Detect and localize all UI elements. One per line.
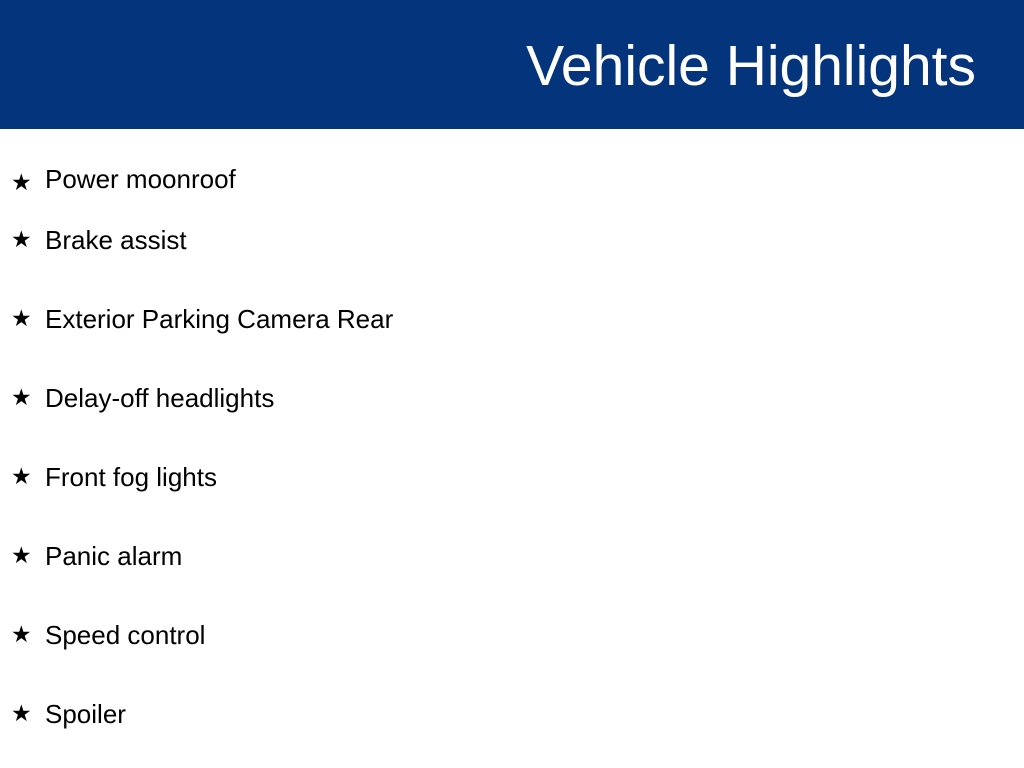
list-item: ★ Front fog lights bbox=[0, 438, 1024, 517]
list-item: ★ Delay-off headlights bbox=[0, 359, 1024, 438]
star-bullet-icon: ★ bbox=[11, 308, 45, 331]
star-bullet-icon: ★ bbox=[11, 624, 45, 647]
list-item: ★ Panic alarm bbox=[0, 517, 1024, 596]
star-bullet-icon: ★ bbox=[11, 172, 45, 195]
slide-header-bar: Vehicle Highlights bbox=[0, 0, 1024, 129]
list-item-label: Spoiler bbox=[45, 700, 126, 730]
list-item-label: Front fog lights bbox=[45, 463, 217, 493]
list-item-label: Brake assist bbox=[45, 226, 187, 256]
page-title: Vehicle Highlights bbox=[526, 38, 976, 95]
list-item: ★ Speed control bbox=[0, 596, 1024, 675]
list-item-label: Delay-off headlights bbox=[45, 384, 274, 414]
star-bullet-icon: ★ bbox=[11, 466, 45, 489]
vehicle-highlights-list: ★ Power moonroof ★ Brake assist ★ Exteri… bbox=[0, 129, 1024, 768]
list-item: ★ Power moonroof bbox=[0, 129, 1024, 201]
star-bullet-icon: ★ bbox=[11, 229, 45, 252]
list-item-label: Panic alarm bbox=[45, 542, 182, 572]
star-bullet-icon: ★ bbox=[11, 545, 45, 568]
list-item-label: Speed control bbox=[45, 621, 205, 651]
list-item-label: Exterior Parking Camera Rear bbox=[45, 305, 393, 335]
list-item-label: Power moonroof bbox=[45, 165, 236, 195]
star-bullet-icon: ★ bbox=[11, 387, 45, 410]
list-item: ★ Exterior Parking Camera Rear bbox=[0, 280, 1024, 359]
slide-canvas: Vehicle Highlights ★ Power moonroof ★ Br… bbox=[0, 0, 1024, 768]
star-bullet-icon: ★ bbox=[11, 703, 45, 726]
list-item: ★ Spoiler bbox=[0, 675, 1024, 754]
list-item: ★ Brake assist bbox=[0, 201, 1024, 280]
